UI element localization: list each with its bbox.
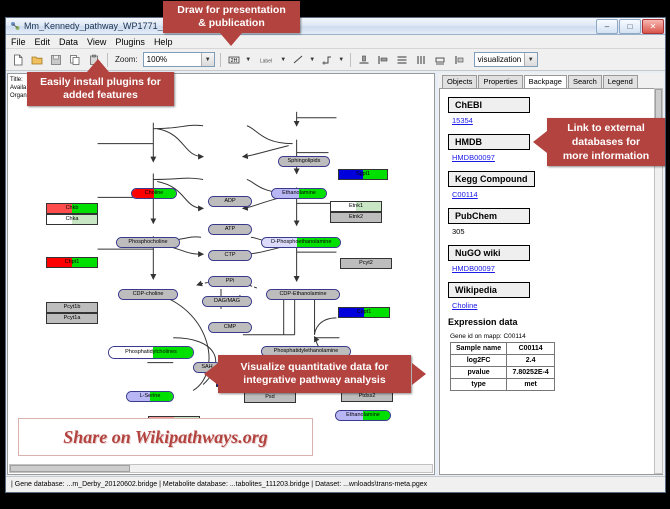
- callout-install-plugins: Easily install plugins for added feature…: [27, 72, 174, 106]
- interaction-icon[interactable]: [319, 52, 335, 68]
- expression-table: Sample name C00114 log2FC 2.4 pvalue 7.8…: [450, 342, 555, 391]
- callout-visualize-arrow-right: [412, 363, 426, 385]
- gene-id-line: Gene id on mapp: C00114: [450, 333, 662, 340]
- menu-view[interactable]: View: [87, 37, 106, 47]
- common-size-icon[interactable]: [432, 52, 448, 68]
- node-label: Ethanolamine: [336, 413, 390, 419]
- share-banner: Share on Wikipathways.org: [18, 418, 313, 456]
- visualization-value: visualization: [478, 55, 522, 64]
- node-label: O-Phosphoethanolamine: [262, 240, 340, 246]
- kegg-compound-link[interactable]: C00114: [452, 190, 662, 199]
- line-icon[interactable]: [290, 52, 306, 68]
- svg-text:Label: Label: [260, 58, 272, 64]
- node-label: ATP: [209, 227, 251, 233]
- copy-icon[interactable]: [67, 52, 83, 68]
- node-label: Ptdss2: [342, 394, 392, 400]
- label-icon[interactable]: Label: [255, 52, 277, 68]
- node-label: L-Serine: [127, 394, 173, 400]
- side-panel-tabs: Objects Properties Backpage Search Legen…: [438, 73, 664, 88]
- node-label: CDP-choline: [119, 292, 177, 298]
- canvas-hscrollbar[interactable]: [9, 464, 433, 473]
- floppy-save-icon[interactable]: [48, 52, 64, 68]
- node-label: Psd: [245, 395, 295, 401]
- table-row: type met: [451, 379, 555, 391]
- pathway-node-l-serine-left[interactable]: L-Serine: [126, 391, 174, 402]
- nugo-wiki-link[interactable]: HMDB00097: [452, 264, 662, 273]
- align-left-icon[interactable]: [375, 52, 391, 68]
- pathway-node-o-phosphoethanolamine[interactable]: O-Phosphoethanolamine: [261, 237, 341, 248]
- wikipedia-link[interactable]: Choline: [452, 301, 662, 310]
- pathway-node-cdp-ethanolamine[interactable]: CDP-Ethanolamine: [266, 289, 340, 300]
- expression-data-title: Expression data: [448, 317, 662, 327]
- node-label: Chpt1: [47, 260, 97, 266]
- menu-help[interactable]: Help: [154, 37, 173, 47]
- expression-key: type: [451, 379, 507, 391]
- new-document-icon[interactable]: [10, 52, 26, 68]
- node-label: Sgpl1: [339, 172, 387, 178]
- interaction-dropdown-icon[interactable]: ▼: [338, 57, 345, 63]
- menu-bar: File Edit Data View Plugins Help: [6, 35, 665, 49]
- pathway-node-phosphatidylcholines[interactable]: Phosphatidylcholines: [108, 346, 194, 359]
- backpage-vscroll-thumb[interactable]: [655, 89, 662, 119]
- node-label: CMP: [209, 325, 251, 331]
- node-label: CTP: [209, 253, 251, 259]
- node-label: Phosphatidylcholines: [109, 350, 193, 356]
- pathway-node-cmp[interactable]: CMP: [208, 322, 252, 333]
- node-label: DAG/MAG: [203, 299, 251, 305]
- callout-visualize-text: Visualize quantitative data for integrat…: [240, 361, 388, 387]
- expression-key: pvalue: [451, 367, 507, 379]
- pathway-node-ctp[interactable]: CTP: [208, 250, 252, 261]
- maximize-button[interactable]: □: [619, 19, 641, 34]
- pathvisio-icon: [10, 21, 20, 31]
- pathway-node-etnk1[interactable]: Etnk1: [330, 201, 382, 212]
- callout-draw-for-publication: Draw for presentation & publication: [163, 1, 300, 33]
- datanode-dropdown-icon[interactable]: ▼: [245, 57, 252, 63]
- node-label: Chkb: [47, 206, 97, 212]
- status-bar: | Gene database: ...m_Derby_20120602.bri…: [6, 476, 665, 492]
- pathway-node-cept1[interactable]: Cept1: [338, 307, 390, 318]
- menu-data[interactable]: Data: [59, 37, 78, 47]
- chevron-down-icon[interactable]: ▼: [201, 53, 214, 66]
- data-node-icon[interactable]: 2H: [226, 52, 242, 68]
- menu-file[interactable]: File: [11, 37, 26, 47]
- toolbar-separator: [220, 53, 221, 67]
- node-label: Chka: [47, 217, 97, 223]
- tab-search[interactable]: Search: [568, 75, 602, 88]
- pubchem-header: PubChem: [448, 208, 530, 224]
- hmdb-header: HMDB: [448, 134, 530, 150]
- expression-key: Sample name: [451, 343, 507, 355]
- node-label: ADP: [209, 199, 251, 205]
- pathway-node-atp[interactable]: ATP: [208, 224, 252, 235]
- table-row: log2FC 2.4: [451, 355, 555, 367]
- order-icon[interactable]: [451, 52, 467, 68]
- visualization-combo[interactable]: visualization ▼: [474, 52, 538, 67]
- node-label: Etnk1: [331, 204, 381, 210]
- tab-objects[interactable]: Objects: [442, 75, 477, 88]
- node-label: Pcyt2: [341, 261, 391, 267]
- minimize-button[interactable]: –: [596, 19, 618, 34]
- svg-text:2H: 2H: [230, 57, 237, 63]
- zoom-label: Zoom:: [115, 55, 138, 64]
- pathway-node-ethanolamine-right[interactable]: Ethanolamine: [335, 410, 391, 421]
- tab-backpage[interactable]: Backpage: [524, 75, 567, 88]
- pathway-node-psd[interactable]: Psd: [244, 392, 296, 403]
- nugo-wiki-header: NuGO wiki: [448, 245, 530, 261]
- callout-links-arrow: [533, 131, 547, 153]
- node-label: Phosphatidylethanolamine: [262, 349, 350, 355]
- chebi-header: ChEBI: [448, 97, 530, 113]
- expression-value: met: [507, 379, 555, 391]
- pathway-node-cdp-choline[interactable]: CDP-choline: [118, 289, 178, 300]
- close-button[interactable]: ✕: [642, 19, 664, 34]
- menu-edit[interactable]: Edit: [35, 37, 51, 47]
- pathway-node-sphingolipids[interactable]: Sphingolipids: [278, 156, 330, 167]
- title-bar: Mm_Kennedy_pathway_WP1771_45176.gpml – □…: [6, 18, 665, 35]
- callout-plugins-arrow: [87, 59, 109, 72]
- pathway-canvas[interactable]: Title: Availa Organi: [7, 73, 435, 475]
- node-label: Cept1: [339, 310, 389, 316]
- callout-external-links: Link to external databases for more info…: [547, 118, 665, 166]
- chevron-down-icon[interactable]: ▼: [524, 53, 537, 66]
- node-label: PPi: [209, 279, 251, 285]
- pathway-node-chkb[interactable]: Chkb: [46, 203, 98, 214]
- pathway-node-pcyt2[interactable]: Pcyt2: [340, 258, 392, 269]
- tab-legend[interactable]: Legend: [603, 75, 638, 88]
- callout-links-text: Link to external databases for more info…: [563, 121, 649, 163]
- node-label: CDP-Ethanolamine: [267, 292, 339, 298]
- pathway-node-etnk2[interactable]: Etnk2: [330, 212, 382, 223]
- node-label: Choline: [132, 191, 176, 197]
- expression-value: 7.80252E-4: [507, 367, 555, 379]
- callout-draw-text: Draw for presentation & publication: [177, 4, 286, 30]
- node-label: Ethanolamine: [272, 191, 326, 197]
- pathway-node-chpt1[interactable]: Chpt1: [46, 257, 98, 268]
- node-label: Phosphocholine: [117, 240, 179, 246]
- table-row: Sample name C00114: [451, 343, 555, 355]
- share-banner-text: Share on Wikipathways.org: [63, 427, 268, 448]
- label-dropdown-icon[interactable]: ▼: [280, 57, 287, 63]
- callout-draw-arrow: [220, 33, 242, 46]
- pathway-node-ethanolamine-top[interactable]: Ethanolamine: [271, 188, 327, 199]
- wikipedia-header: Wikipedia: [448, 282, 530, 298]
- pubchem-value: 305: [452, 227, 662, 236]
- node-label: Sphingolipids: [279, 159, 329, 165]
- zoom-value: 100%: [147, 55, 167, 64]
- pathway-node-phosphocholine[interactable]: Phosphocholine: [116, 237, 180, 248]
- callout-visualize-data: Visualize quantitative data for integrat…: [218, 355, 411, 393]
- expression-key: log2FC: [451, 355, 507, 367]
- node-label: Pcyt1a: [47, 316, 97, 322]
- pathway-node-ppi[interactable]: PPi: [208, 276, 252, 287]
- kegg-compound-header: Kegg Compound: [448, 171, 535, 187]
- pathway-node-pcyt1b[interactable]: Pcyt1b: [46, 302, 98, 313]
- zoom-combo[interactable]: 100% ▼: [143, 52, 215, 67]
- pathway-node-adp[interactable]: ADP: [208, 196, 252, 207]
- toolbar-separator: [350, 53, 351, 67]
- node-label: Pcyt1b: [47, 305, 97, 311]
- pathway-node-pcyt1a[interactable]: Pcyt1a: [46, 313, 98, 324]
- node-label: Etnk2: [331, 215, 381, 221]
- callout-visualize-arrow: [204, 363, 218, 385]
- tab-properties[interactable]: Properties: [478, 75, 522, 88]
- window-controls: – □ ✕: [596, 18, 665, 35]
- canvas-hscroll-thumb[interactable]: [10, 465, 130, 472]
- menu-plugins[interactable]: Plugins: [115, 37, 145, 47]
- pathway-node-chka[interactable]: Chka: [46, 214, 98, 225]
- pathway-node-sgpl1[interactable]: Sgpl1: [338, 169, 388, 180]
- open-folder-icon[interactable]: [29, 52, 45, 68]
- callout-plugins-text: Easily install plugins for added feature…: [40, 76, 161, 102]
- pathway-node-choline-top[interactable]: Choline: [131, 188, 177, 199]
- table-row: pvalue 7.80252E-4: [451, 367, 555, 379]
- expression-value: C00114: [507, 343, 555, 355]
- stack-vertical-icon[interactable]: [394, 52, 410, 68]
- distribute-icon[interactable]: [413, 52, 429, 68]
- pathway-node-dag-mag[interactable]: DAG/MAG: [202, 296, 252, 307]
- align-bottom-icon[interactable]: [356, 52, 372, 68]
- expression-value: 2.4: [507, 355, 555, 367]
- status-text: | Gene database: ...m_Derby_20120602.bri…: [11, 481, 427, 488]
- line-dropdown-icon[interactable]: ▼: [309, 57, 316, 63]
